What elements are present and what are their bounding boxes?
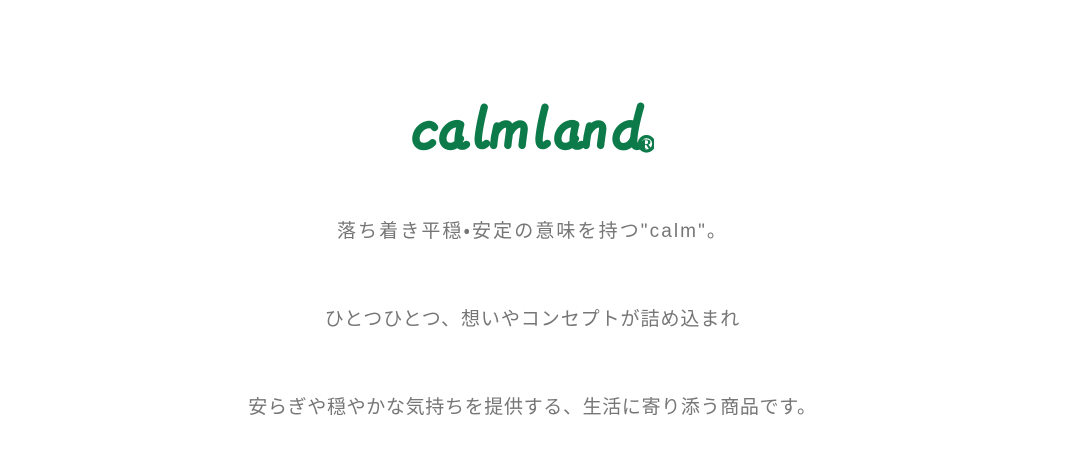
brand-concept-section: R calmland 落ち着き平穏・安定の意味を持つ"calm"。 ひとつひとつ… (0, 0, 1065, 423)
brand-logo: R calmland (412, 101, 654, 157)
brand-description: 落ち着き平穏・安定の意味を持つ"calm"。 ひとつひとつ、想いやコンセプトが詰… (248, 188, 816, 452)
registered-trademark-letter: R (641, 137, 652, 153)
description-line-3: 安らぎや穏やかな気持ちを提供する、生活に寄り添う商品です。 (248, 383, 816, 433)
description-line-2: ひとつひとつ、想いやコンセプトが詰め込まれ (325, 295, 741, 345)
description-line-1: 落ち着き平穏・安定の意味を持つ"calm"。 (337, 207, 728, 257)
calmland-wordmark-icon: R (412, 101, 654, 157)
